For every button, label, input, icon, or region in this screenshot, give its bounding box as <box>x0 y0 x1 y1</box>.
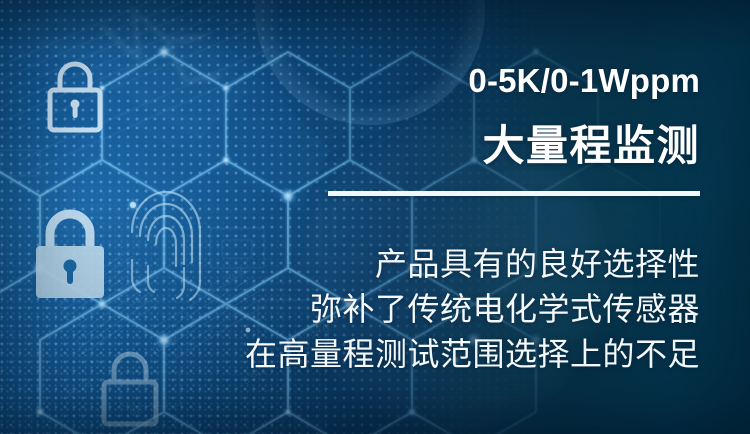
headline-subtitle-cn: 大量程监测 <box>40 120 700 172</box>
headline-range: 0-5K/0-1Wppm <box>40 61 700 101</box>
feature-line-3: 在高量程测试范围选择上的不足 <box>40 332 700 377</box>
product-feature-banner: 2012 R08 0824 8129 33425 B8 253 0064248 <box>0 0 750 434</box>
feature-description: 产品具有的良好选择性 弥补了传统电化学式传感器 在高量程测试范围选择上的不足 <box>40 242 700 377</box>
text-content-block: 0-5K/0-1Wppm 大量程监测 产品具有的良好选择性 弥补了传统电化学式传… <box>40 0 700 434</box>
feature-line-1: 产品具有的良好选择性 <box>40 242 700 287</box>
headline-divider <box>328 191 700 196</box>
feature-line-2: 弥补了传统电化学式传感器 <box>40 287 700 332</box>
